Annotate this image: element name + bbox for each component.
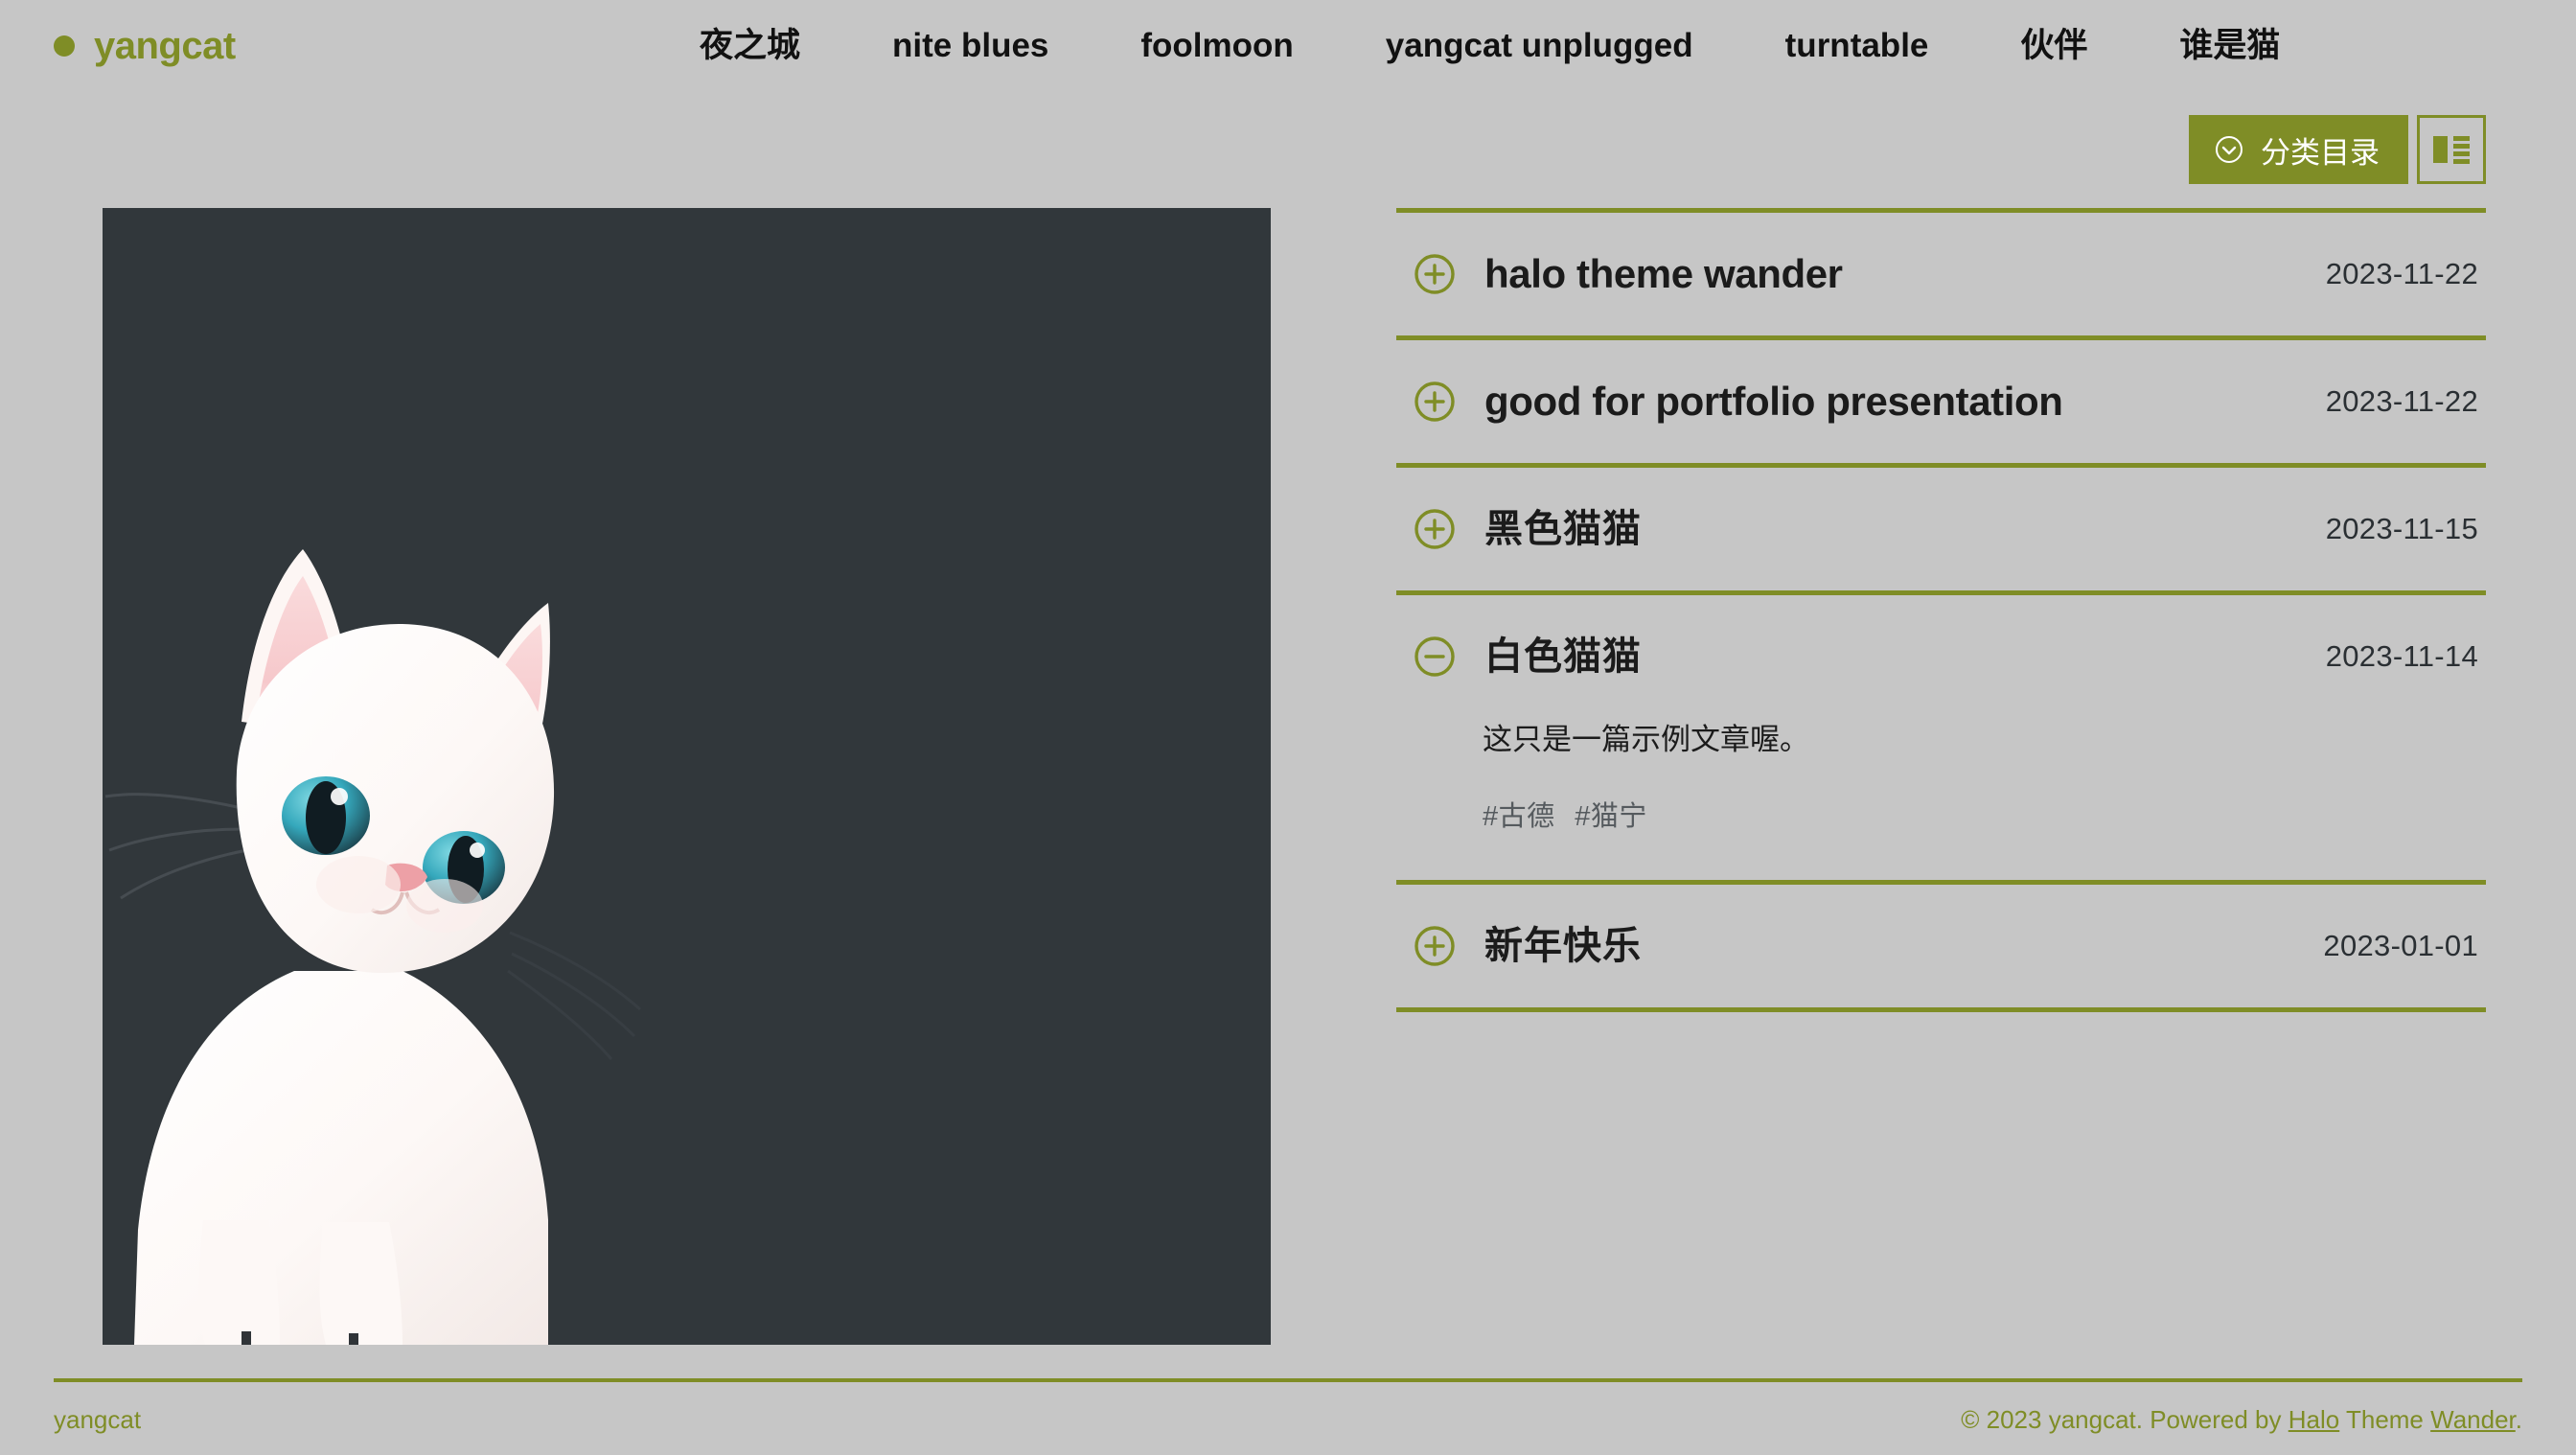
plus-circle-icon[interactable] <box>1413 924 1457 968</box>
footer-wander-link[interactable]: Wander <box>2430 1405 2516 1434</box>
brand-dot-icon <box>54 35 75 57</box>
brand-logo[interactable]: yangcat <box>54 27 236 65</box>
post-tags: #古德 #猫宁 <box>1483 794 2486 834</box>
footer-copyright-prefix: © 2023 yangcat. Powered by <box>1961 1405 2288 1434</box>
post-list-item: 黑色猫猫 2023-11-15 <box>1396 468 2486 595</box>
plus-circle-icon[interactable] <box>1413 380 1457 424</box>
featured-image-panel <box>103 208 1271 1345</box>
post-list: halo theme wander 2023-11-22 good for po… <box>1396 213 2486 1012</box>
nav-item-turntable[interactable]: turntable <box>1785 28 1929 65</box>
minus-circle-icon[interactable] <box>1413 635 1457 679</box>
chevron-down-circle-icon <box>2214 134 2244 165</box>
post-header[interactable]: good for portfolio presentation 2023-11-… <box>1396 340 2486 463</box>
post-list-item: 新年快乐 2023-01-01 <box>1396 885 2486 1012</box>
post-body: 这只是一篇示例文章喔。 #古德 #猫宁 <box>1396 718 2486 880</box>
post-title[interactable]: good for portfolio presentation <box>1484 380 2326 424</box>
footer-theme-word: Theme <box>2339 1405 2430 1434</box>
footer-suffix: . <box>2516 1405 2522 1434</box>
category-directory-button[interactable]: 分类目录 <box>2189 115 2408 184</box>
post-excerpt: 这只是一篇示例文章喔。 <box>1483 718 2486 763</box>
category-directory-label: 分类目录 <box>2261 128 2380 172</box>
post-date: 2023-11-14 <box>2326 639 2486 674</box>
footer-copyright: © 2023 yangcat. Powered by Halo Theme Wa… <box>1961 1405 2522 1435</box>
post-title[interactable]: halo theme wander <box>1484 252 2326 296</box>
nav-item-foolmoon[interactable]: foolmoon <box>1140 28 1293 65</box>
brand-name: yangcat <box>94 27 236 65</box>
post-header[interactable]: 黑色猫猫 2023-11-15 <box>1396 468 2486 590</box>
nav-item-ye-zhi-cheng[interactable]: 夜之城 <box>700 28 800 65</box>
list-layout-icon <box>2431 133 2472 166</box>
cat-illustration <box>103 434 692 1345</box>
post-date: 2023-11-22 <box>2326 384 2486 419</box>
site-header: yangcat 夜之城 nite blues foolmoon yangcat … <box>0 0 2576 105</box>
post-tag[interactable]: #猫宁 <box>1575 801 1647 832</box>
footer-halo-link[interactable]: Halo <box>2288 1405 2339 1434</box>
footer-site-name[interactable]: yangcat <box>54 1405 141 1435</box>
post-header[interactable]: 新年快乐 2023-01-01 <box>1396 885 2486 1007</box>
post-date: 2023-11-15 <box>2326 512 2486 546</box>
nav-item-huoban[interactable]: 伙伴 <box>2020 28 2087 65</box>
post-title[interactable]: 新年快乐 <box>1484 925 2323 967</box>
post-date: 2023-11-22 <box>2326 257 2486 291</box>
plus-circle-icon[interactable] <box>1413 252 1457 296</box>
post-list-item: good for portfolio presentation 2023-11-… <box>1396 340 2486 468</box>
archive-column: 分类目录 <box>1396 115 2486 1012</box>
post-tag[interactable]: #古德 <box>1483 801 1555 832</box>
nav-item-nite-blues[interactable]: nite blues <box>892 28 1048 65</box>
post-date: 2023-01-01 <box>2323 929 2486 963</box>
site-footer: yangcat © 2023 yangcat. Powered by Halo … <box>54 1378 2522 1435</box>
main-nav: 夜之城 nite blues foolmoon yangcat unplugge… <box>700 28 2280 65</box>
footer-row: yangcat © 2023 yangcat. Powered by Halo … <box>54 1382 2522 1435</box>
post-title[interactable]: 黑色猫猫 <box>1484 508 2326 550</box>
post-list-item: halo theme wander 2023-11-22 <box>1396 213 2486 340</box>
nav-item-yangcat-unplugged[interactable]: yangcat unplugged <box>1386 28 1693 65</box>
archive-toolbar: 分类目录 <box>1396 115 2486 208</box>
layout-toggle-button[interactable] <box>2417 115 2486 184</box>
post-title[interactable]: 白色猫猫 <box>1484 635 2326 678</box>
plus-circle-icon[interactable] <box>1413 507 1457 551</box>
post-header[interactable]: halo theme wander 2023-11-22 <box>1396 213 2486 335</box>
nav-item-sheishimao[interactable]: 谁是猫 <box>2179 28 2280 65</box>
post-list-item-expanded: 白色猫猫 2023-11-14 这只是一篇示例文章喔。 #古德 #猫宁 <box>1396 595 2486 885</box>
page-root: yangcat 夜之城 nite blues foolmoon yangcat … <box>0 0 2576 1455</box>
post-header[interactable]: 白色猫猫 2023-11-14 <box>1396 595 2486 718</box>
